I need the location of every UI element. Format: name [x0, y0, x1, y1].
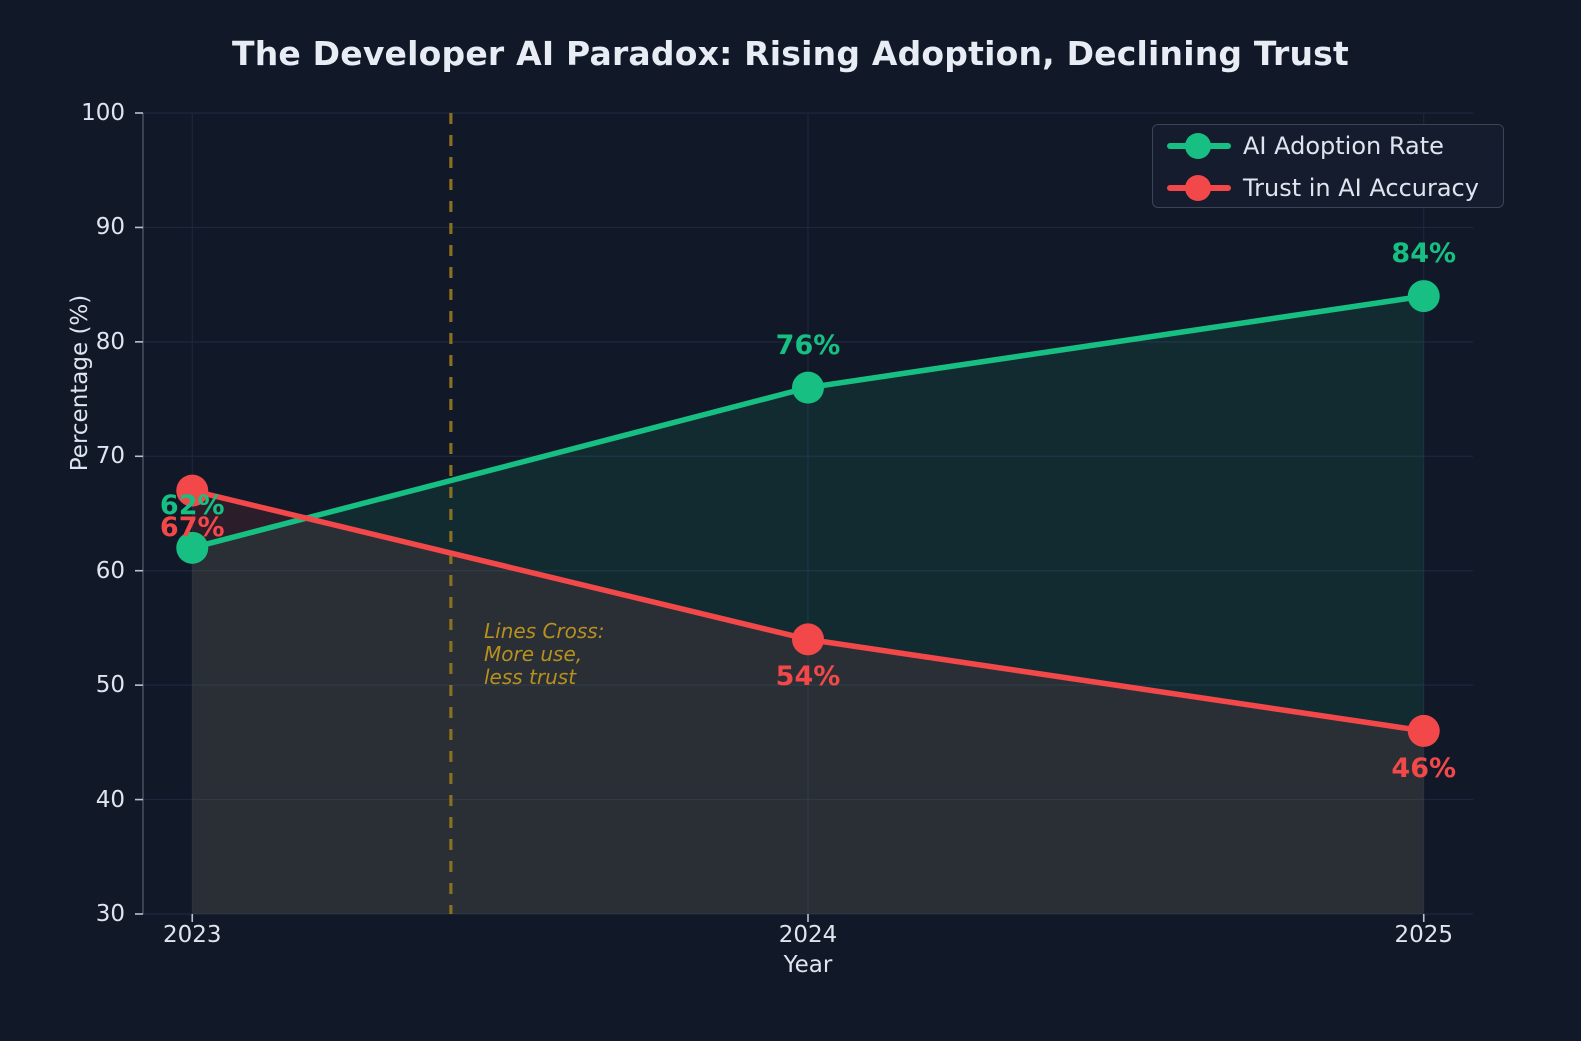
legend-label: Trust in AI Accuracy	[1243, 174, 1479, 202]
y-axis-tick-label: 30	[55, 901, 125, 927]
data-label-ai-adoption-rate: 84%	[1391, 238, 1456, 269]
data-point-marker[interactable]	[1408, 715, 1440, 747]
legend-item-trust-in-ai-accuracy[interactable]: Trust in AI Accuracy	[1153, 167, 1503, 209]
data-point-marker[interactable]	[792, 623, 824, 655]
data-label-trust-in-ai-accuracy: 67%	[160, 512, 225, 543]
legend-item-ai-adoption-rate[interactable]: AI Adoption Rate	[1153, 125, 1503, 167]
y-axis-label: Percentage (%)	[67, 248, 93, 518]
y-axis-tick-label: 90	[55, 214, 125, 240]
y-axis-tick-label: 60	[55, 558, 125, 584]
data-point-marker[interactable]	[792, 372, 824, 404]
y-axis-tick-label: 40	[55, 787, 125, 813]
data-label-ai-adoption-rate: 76%	[776, 330, 841, 361]
x-axis-tick-label: 2025	[1364, 922, 1484, 948]
x-axis-tick-label: 2023	[132, 922, 252, 948]
data-label-trust-in-ai-accuracy: 54%	[776, 661, 841, 692]
crossover-annotation: Lines Cross: More use, less trust	[484, 620, 604, 689]
legend-marker-icon	[1167, 175, 1231, 201]
x-axis-label: Year	[143, 952, 1473, 978]
chart-legend[interactable]: AI Adoption Rate Trust in AI Accuracy	[1152, 124, 1504, 208]
y-axis-tick-label: 100	[55, 100, 125, 126]
y-axis-tick-label: 50	[55, 672, 125, 698]
data-label-trust-in-ai-accuracy: 46%	[1391, 753, 1456, 784]
chart-figure: The Developer AI Paradox: Rising Adoptio…	[0, 0, 1581, 1041]
legend-label: AI Adoption Rate	[1243, 132, 1444, 160]
legend-marker-icon	[1167, 133, 1231, 159]
data-point-marker[interactable]	[1408, 280, 1440, 312]
x-axis-tick-label: 2024	[748, 922, 868, 948]
